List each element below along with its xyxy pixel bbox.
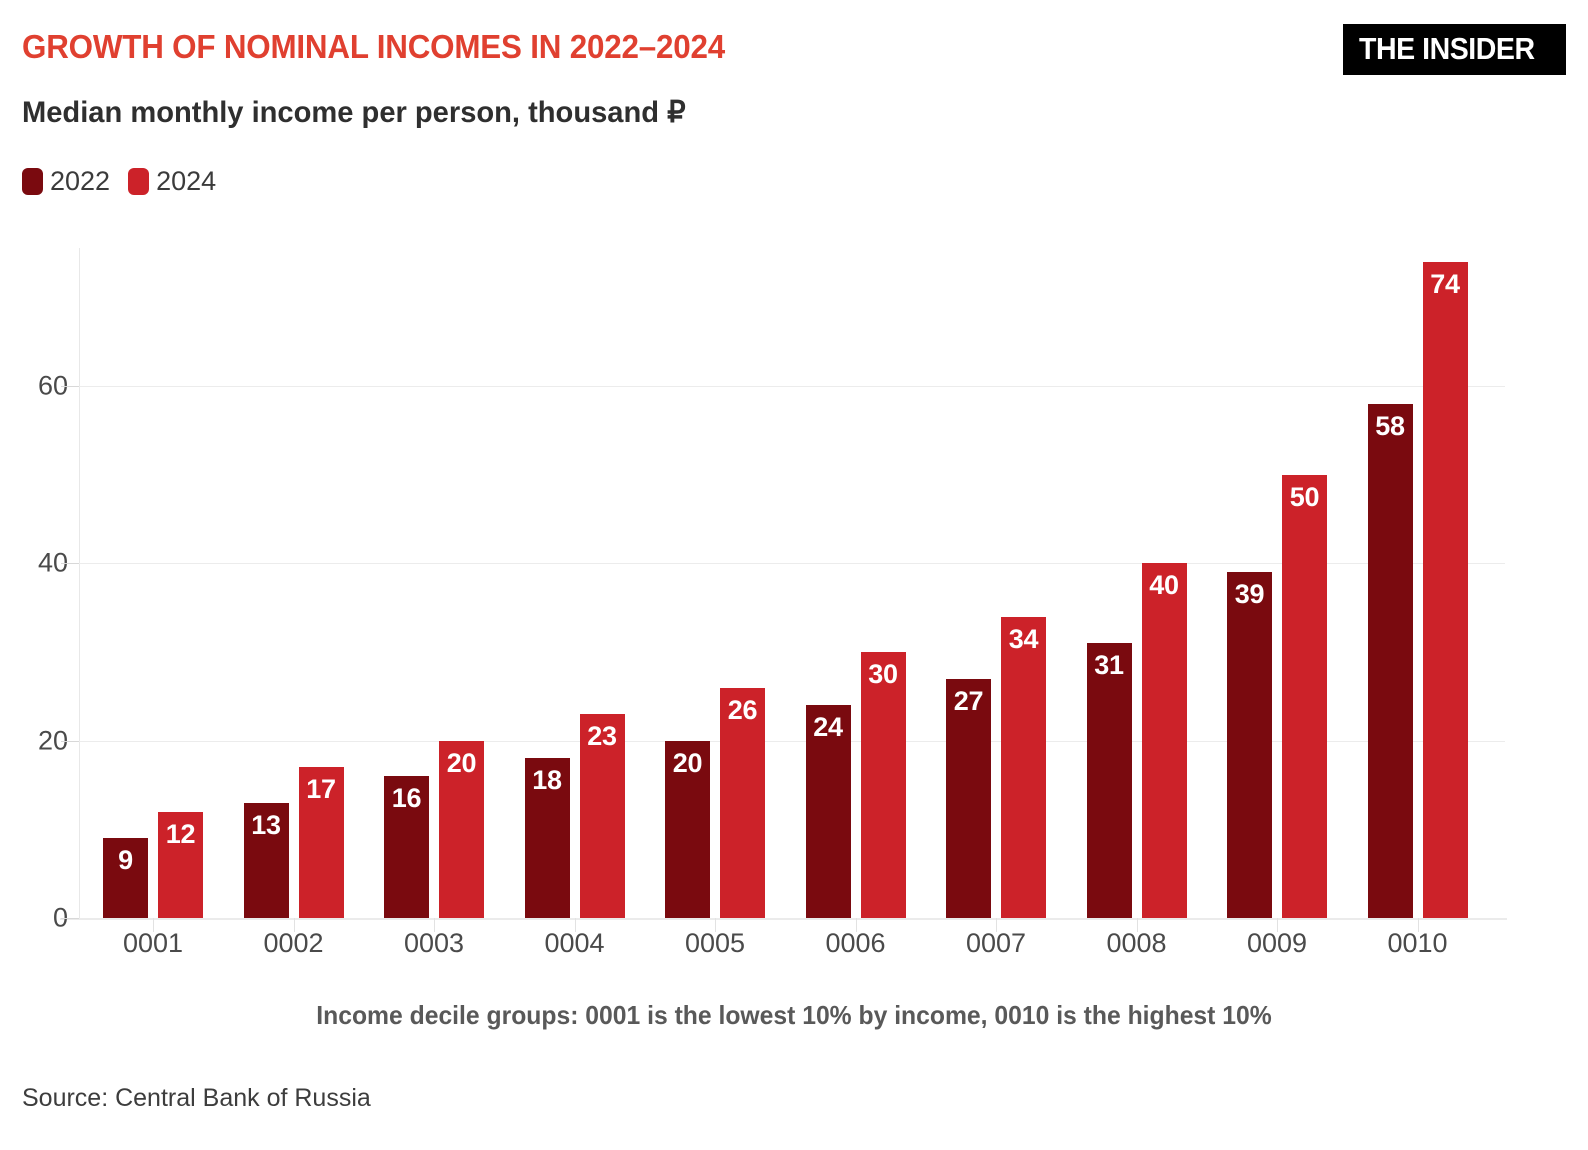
legend-item-2024[interactable]: 2024: [128, 168, 216, 195]
bar-group-0003: 1620: [384, 248, 484, 918]
page-title: GROWTH OF NOMINAL INCOMES IN 2022–2024: [22, 28, 725, 66]
bar-0002-2022[interactable]: 13: [244, 803, 289, 918]
y-axis-tick-mark: [61, 741, 79, 742]
bar-0002-2024[interactable]: 17: [299, 767, 344, 918]
bar-value-label: 23: [580, 721, 625, 752]
x-axis-tick-mark: [1418, 918, 1419, 932]
y-axis-tick-label: 0: [0, 903, 68, 934]
bar-0007-2024[interactable]: 34: [1001, 617, 1046, 918]
bar-group-0005: 2026: [665, 248, 765, 918]
bar-group-0010: 5874: [1368, 248, 1468, 918]
bar-group-0006: 2430: [806, 248, 906, 918]
bar-value-label: 27: [946, 686, 991, 717]
bar-0010-2024[interactable]: 74: [1423, 262, 1468, 918]
bar-0001-2024[interactable]: 12: [158, 812, 203, 918]
bar-0004-2022[interactable]: 18: [525, 758, 570, 918]
bar-value-label: 31: [1087, 650, 1132, 681]
bar-value-label: 18: [525, 765, 570, 796]
bar-value-label: 39: [1227, 579, 1272, 610]
source-caption: Source: Central Bank of Russia: [22, 1084, 371, 1113]
bar-group-0008: 3140: [1087, 248, 1187, 918]
legend-swatch-icon: [22, 168, 43, 195]
x-axis-tick-mark: [856, 918, 857, 932]
bar-value-label: 58: [1368, 411, 1413, 442]
x-axis-tick-label-0010: 0010: [1328, 928, 1508, 959]
bar-group-0009: 3950: [1227, 248, 1327, 918]
bar-value-label: 12: [158, 819, 203, 850]
bar-value-label: 17: [299, 774, 344, 805]
bar-value-label: 16: [384, 783, 429, 814]
bar-value-label: 34: [1001, 624, 1046, 655]
logo-text: THE INSIDER: [1359, 33, 1535, 64]
x-axis-tick-mark: [153, 918, 154, 932]
bar-value-label: 26: [720, 695, 765, 726]
bar-group-0002: 1317: [244, 248, 344, 918]
y-axis-tick-label: 20: [0, 725, 68, 756]
x-axis-tick-mark: [294, 918, 295, 932]
legend-swatch-icon: [128, 168, 149, 195]
bar-0009-2022[interactable]: 39: [1227, 572, 1272, 918]
bar-group-0007: 2734: [946, 248, 1046, 918]
chart-footnote: Income decile groups: 0001 is the lowest…: [40, 1000, 1549, 1031]
bar-group-0004: 1823: [525, 248, 625, 918]
chart-legend: 20222024: [22, 168, 216, 195]
bar-group-0001: 912: [103, 248, 203, 918]
x-axis-tick-mark: [1277, 918, 1278, 932]
y-axis-tick-mark: [61, 386, 79, 387]
bar-value-label: 20: [439, 748, 484, 779]
bar-0008-2022[interactable]: 31: [1087, 643, 1132, 918]
bar-value-label: 9: [103, 845, 148, 876]
bar-value-label: 24: [806, 712, 851, 743]
x-axis-tick-mark: [996, 918, 997, 932]
bar-0008-2024[interactable]: 40: [1142, 563, 1187, 918]
legend-label: 2024: [156, 168, 216, 195]
bar-0005-2024[interactable]: 26: [720, 688, 765, 918]
bar-0001-2022[interactable]: 9: [103, 838, 148, 918]
bar-0010-2022[interactable]: 58: [1368, 404, 1413, 918]
y-axis-tick-label: 40: [0, 548, 68, 579]
bar-0005-2022[interactable]: 20: [665, 741, 710, 918]
bar-value-label: 40: [1142, 570, 1187, 601]
legend-item-2022[interactable]: 2022: [22, 168, 110, 195]
bar-0006-2024[interactable]: 30: [861, 652, 906, 918]
the-insider-logo: THE INSIDER: [1343, 24, 1566, 75]
page-subtitle: Median monthly income per person, thousa…: [22, 95, 686, 130]
bar-value-label: 74: [1423, 269, 1468, 300]
infographic-page: GROWTH OF NOMINAL INCOMES IN 2022–2024 M…: [0, 0, 1588, 1150]
bar-value-label: 20: [665, 748, 710, 779]
x-axis-line: [60, 918, 1507, 920]
bar-0004-2024[interactable]: 23: [580, 714, 625, 918]
y-axis-tick-mark: [61, 918, 79, 919]
x-axis-tick-mark: [715, 918, 716, 932]
bar-0006-2022[interactable]: 24: [806, 705, 851, 918]
bar-value-label: 13: [244, 810, 289, 841]
y-axis-tick-mark: [61, 563, 79, 564]
bar-value-label: 30: [861, 659, 906, 690]
chart-plot-area: 912131716201823202624302734314039505874: [79, 248, 1505, 918]
x-axis-tick-mark: [434, 918, 435, 932]
bar-0007-2022[interactable]: 27: [946, 679, 991, 918]
x-axis-tick-mark: [575, 918, 576, 932]
bar-0003-2022[interactable]: 16: [384, 776, 429, 918]
bar-0003-2024[interactable]: 20: [439, 741, 484, 918]
bar-value-label: 50: [1282, 482, 1327, 513]
x-axis-tick-mark: [1137, 918, 1138, 932]
y-axis-tick-label: 60: [0, 371, 68, 402]
legend-label: 2022: [50, 168, 110, 195]
bar-0009-2024[interactable]: 50: [1282, 475, 1327, 918]
